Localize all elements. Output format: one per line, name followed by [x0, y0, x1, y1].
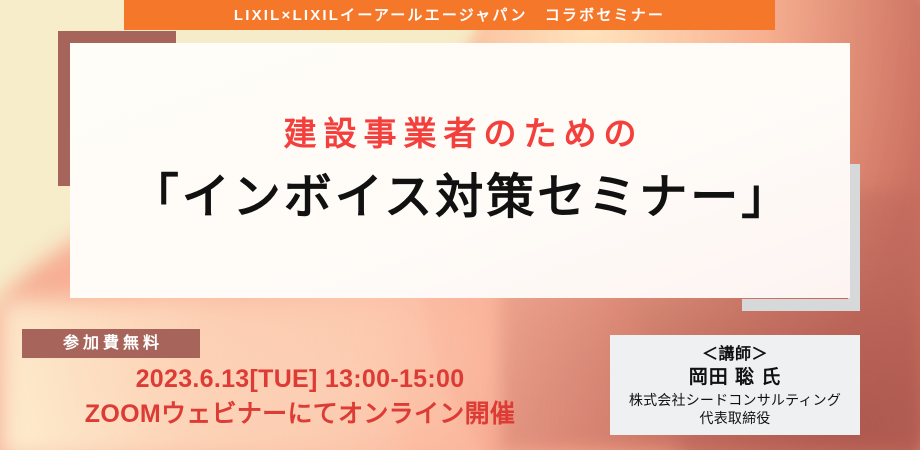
collab-ribbon-text: LIXIL×LIXILイーアールエージャパン コラボセミナー	[234, 8, 665, 23]
speaker-job-title: 代表取締役	[700, 409, 771, 427]
event-venue: ZOOMウェビナーにてオンライン開催	[0, 397, 600, 432]
title-card: 建設事業者のための 「インボイス対策セミナー」	[70, 43, 850, 298]
free-admission-badge: 参加費無料	[22, 329, 200, 358]
free-admission-badge-label: 参加費無料	[59, 336, 163, 352]
page-title: 「インボイス対策セミナー」	[128, 170, 793, 225]
subheadline: 建設事業者のための	[277, 116, 644, 152]
event-datetime: 2023.6.13[TUE] 13:00-15:00	[0, 362, 600, 397]
speaker-name: 岡田 聡 氏	[689, 365, 782, 391]
speaker-company: 株式会社シードコンサルティング	[629, 391, 841, 409]
event-info: 2023.6.13[TUE] 13:00-15:00 ZOOMウェビナーにてオン…	[0, 362, 600, 432]
collab-ribbon: LIXIL×LIXILイーアールエージャパン コラボセミナー	[124, 0, 775, 30]
speaker-role-label: ＜講師＞	[702, 345, 768, 365]
seminar-banner: LIXIL×LIXILイーアールエージャパン コラボセミナー 建設事業者のための…	[0, 0, 920, 450]
speaker-card: ＜講師＞ 岡田 聡 氏 株式会社シードコンサルティング 代表取締役	[610, 335, 860, 435]
